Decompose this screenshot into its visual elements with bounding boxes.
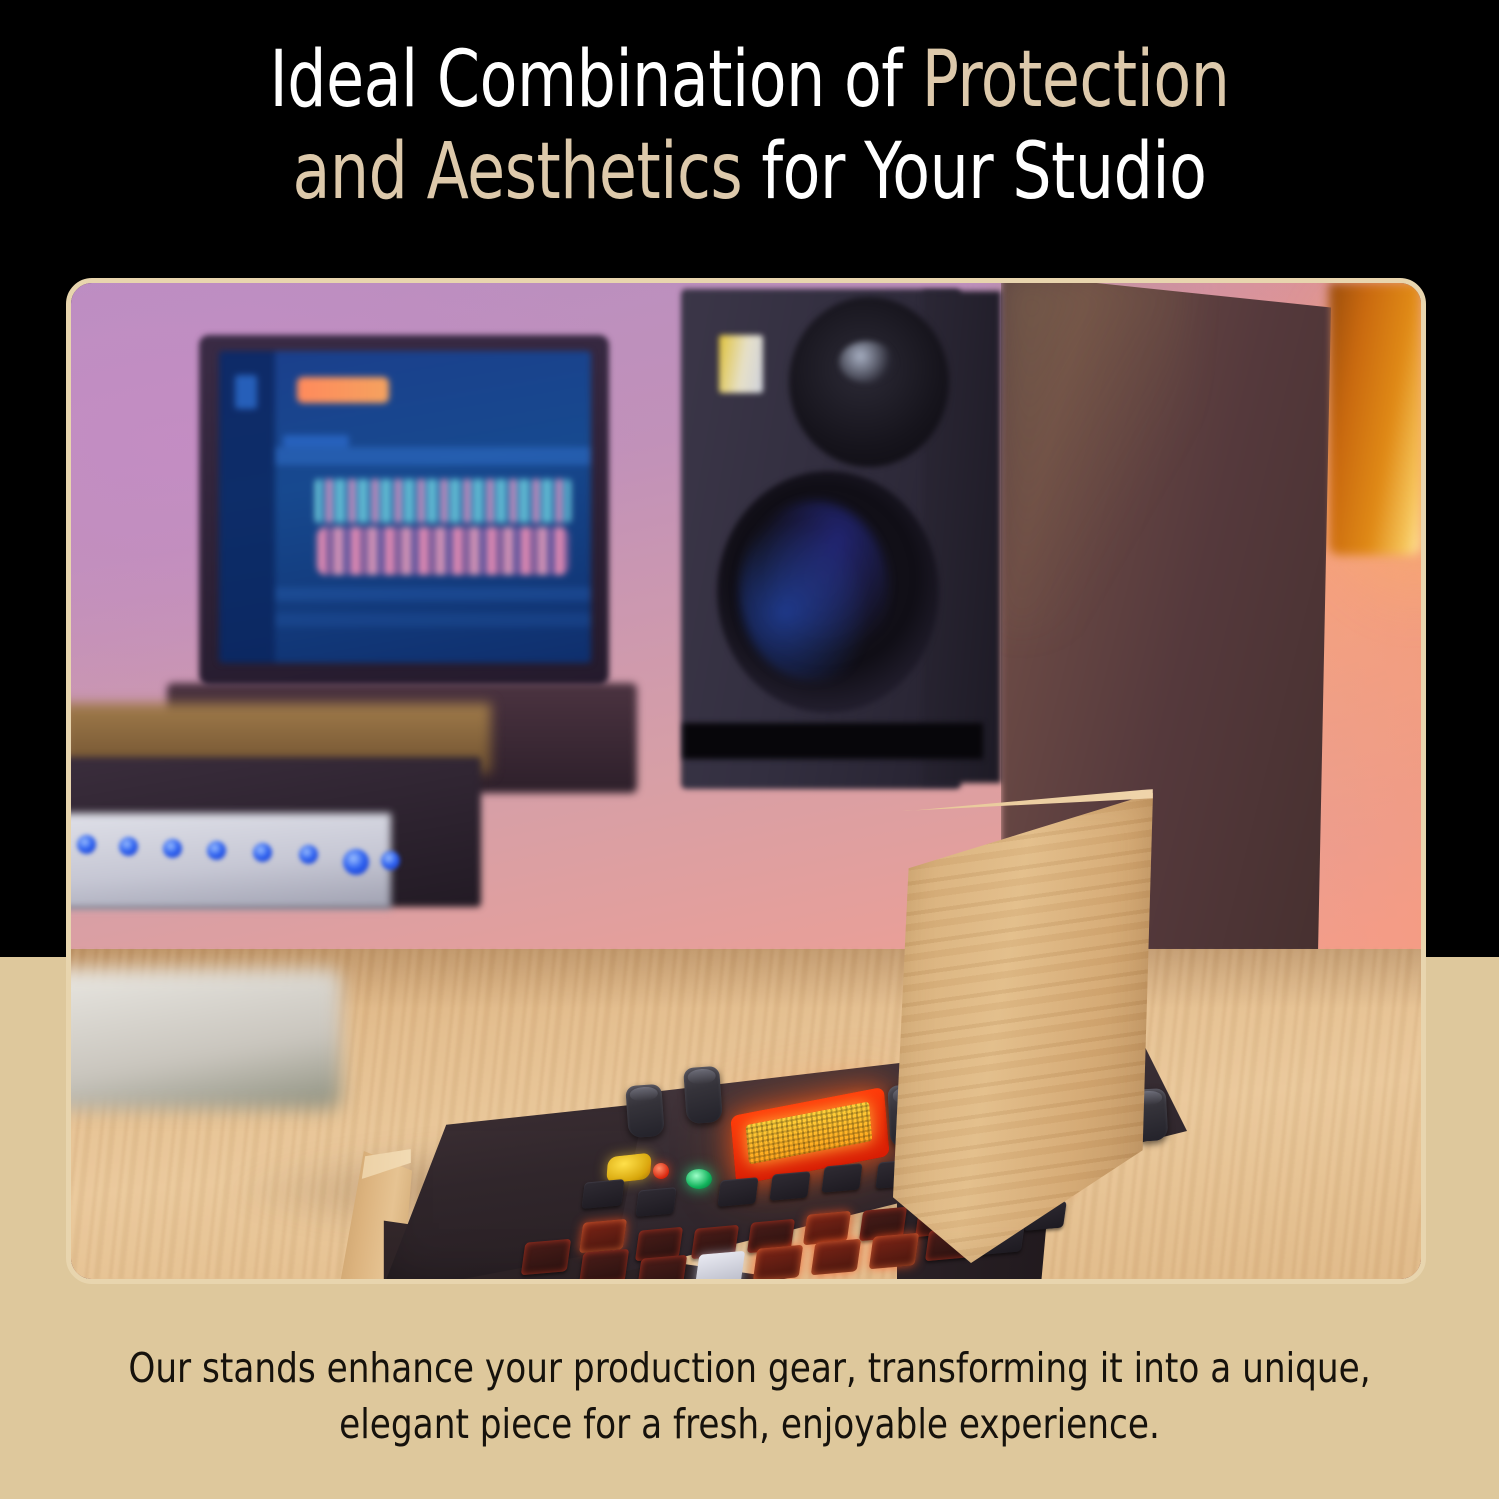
groovebox-pad [811,1239,861,1276]
daw-ruler [275,447,591,465]
speaker-tweeter-dome [839,341,895,383]
keyboard-led [253,843,272,862]
groovebox-red-indicator [653,1163,669,1179]
groovebox-button [581,1179,624,1209]
daw-track-2 [317,527,569,575]
headline-line-2-white: for Your Studio [742,127,1206,217]
headline-line-2: and Aesthetics for Your Studio [90,126,1409,218]
caption-line-2: elegant piece for a fresh, enjoyable exp… [52,1396,1446,1452]
acoustic-panel-highlight [1001,278,1191,633]
groovebox-pad [637,1255,687,1284]
daw-highlight-clip [297,377,389,403]
wall-lamp [1329,283,1421,555]
product-photo: Headliner [66,278,1426,1284]
groovebox-knob [683,1066,723,1124]
groovebox-pad-selected [695,1251,745,1284]
groovebox-pad [579,1249,629,1284]
keyboard-led [163,839,182,858]
page-title: Ideal Combination of Protection and Aest… [90,34,1409,218]
groovebox-green-indicator [686,1169,712,1189]
speaker-logo-badge [719,335,763,393]
headline-line-2-accent: and Aesthetics [293,127,743,217]
groovebox-pad [869,1233,919,1270]
keyboard-led [77,835,96,854]
speaker-port [683,723,983,759]
headline-line-1-accent: Protection [922,35,1230,125]
daw-track-4 [275,613,591,627]
daw-track-3 [275,587,591,601]
keyboard-led [119,837,138,856]
keyboard-led [381,851,400,870]
keyboard-led [207,841,226,860]
daw-toolbar-icon [235,375,257,409]
keyboard-led [299,845,318,864]
groovebox-button [635,1187,676,1217]
keyboard-led [343,849,369,875]
daw-track-1 [315,479,571,523]
product-caption: Our stands enhance your production gear,… [52,1340,1446,1452]
groovebox-button [769,1171,810,1201]
caption-line-1: Our stands enhance your production gear,… [52,1340,1446,1396]
groovebox-button [717,1177,758,1207]
groovebox-pad [753,1245,803,1282]
groovebox-pad [521,1239,571,1276]
headline-line-1-white: Ideal Combination of [270,35,922,125]
desk-paper [66,969,341,1109]
headline-line-1: Ideal Combination of Protection [90,34,1409,126]
groovebox-button [821,1163,862,1193]
speaker-woofer-reflection [739,501,889,681]
daw-screen [219,351,591,663]
groovebox-knob [625,1084,665,1138]
groovebox-pad [579,1219,627,1253]
daw-clip [283,435,349,447]
